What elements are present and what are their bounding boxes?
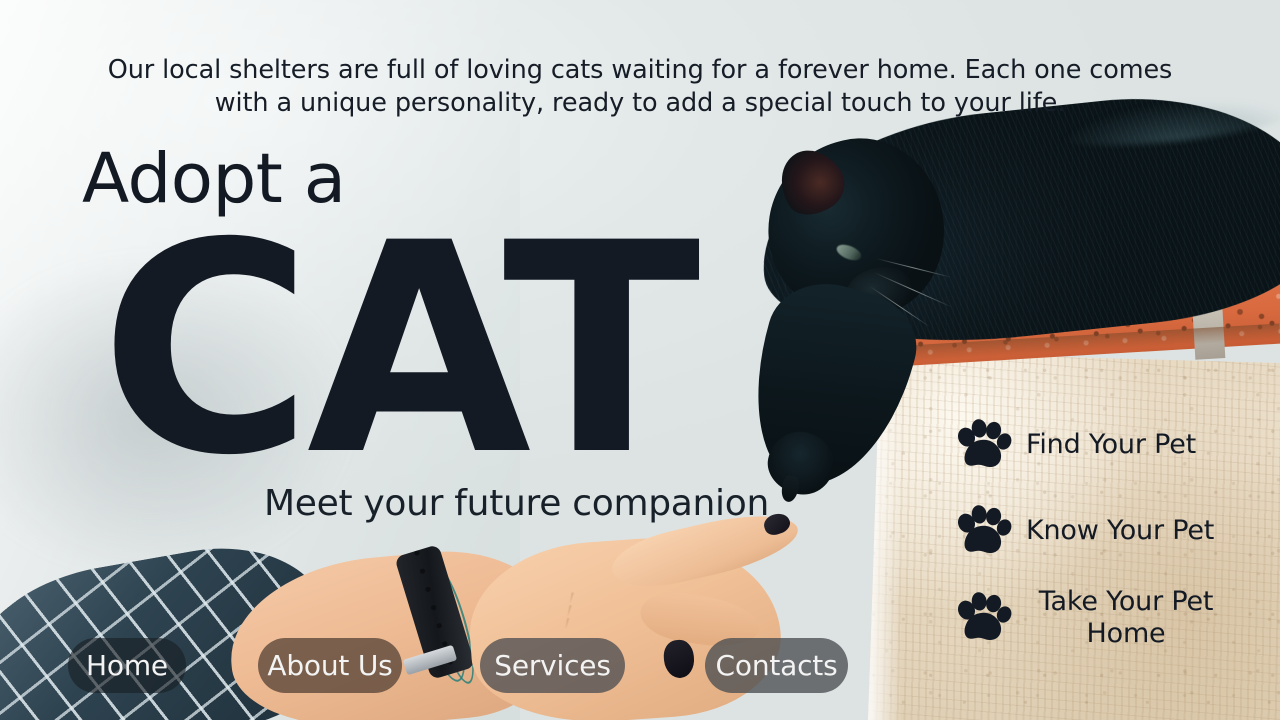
paw-icon (956, 503, 1012, 559)
hero-headline: CAT (100, 206, 695, 496)
nav-item-home[interactable]: Home (68, 638, 186, 693)
nav-item-services[interactable]: Services (480, 638, 625, 693)
feature-list: Find Your Pet Know Your Pet (956, 414, 1256, 650)
feature-item-know-your-pet[interactable]: Know Your Pet (956, 500, 1256, 562)
hero-tagline: Meet your future companion (264, 482, 769, 526)
feature-label: Find Your Pet (1026, 429, 1196, 461)
hero-poster: Adopt a CAT Meet your future companion O… (0, 0, 1280, 720)
main-navigation: Home About Us Services Contacts (0, 638, 1280, 694)
nav-item-about-us[interactable]: About Us (258, 638, 402, 693)
feature-item-find-your-pet[interactable]: Find Your Pet (956, 414, 1256, 476)
hero-intro: Our local shelters are full of loving ca… (84, 54, 1196, 120)
feature-label: Know Your Pet (1026, 515, 1214, 547)
paw-icon (956, 417, 1012, 473)
nav-item-contacts[interactable]: Contacts (705, 638, 848, 693)
